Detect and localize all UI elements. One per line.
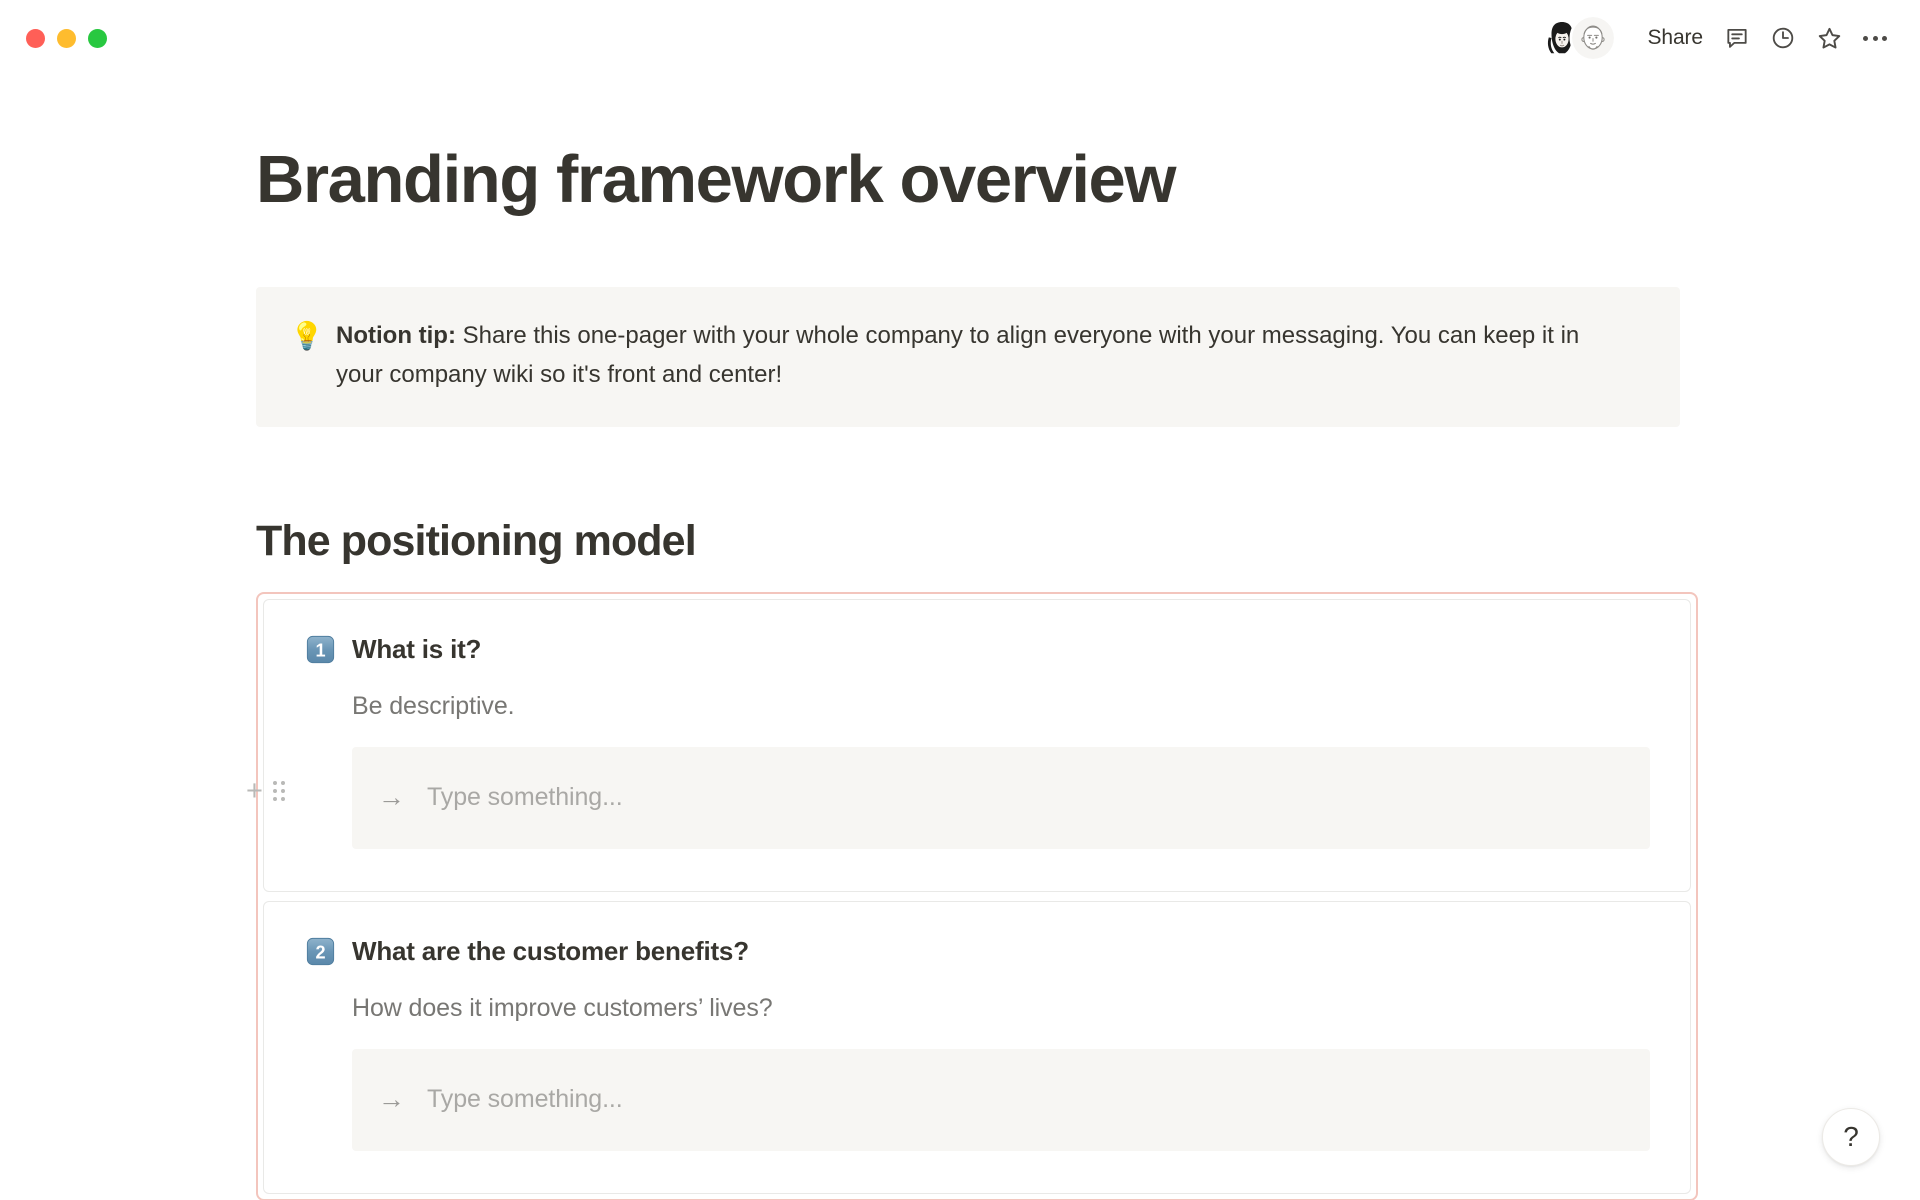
- star-icon[interactable]: [1806, 15, 1852, 61]
- window-close-button[interactable]: [26, 29, 45, 48]
- question-card-2-header: 2 What are the customer benefits?: [304, 936, 1650, 968]
- number-two-emoji: 2: [304, 936, 336, 968]
- help-button[interactable]: ?: [1822, 1108, 1880, 1166]
- question-card-1-answer-row: + → Type something...: [304, 747, 1650, 849]
- lightbulb-emoji: 💡: [290, 318, 336, 354]
- drag-handle-icon[interactable]: [273, 781, 285, 801]
- page-content: Branding framework overview 💡 Notion tip…: [0, 142, 1920, 1200]
- window-maximize-button[interactable]: [88, 29, 107, 48]
- answer-input-1-placeholder: Type something...: [427, 783, 623, 812]
- topbar-actions: Share: [1541, 0, 1898, 76]
- block-controls-1: +: [246, 777, 285, 806]
- collaborator-avatars[interactable]: [1541, 17, 1614, 59]
- question-card-1-title: What is it?: [352, 634, 481, 665]
- svg-text:2: 2: [315, 942, 325, 962]
- answer-input-1[interactable]: → Type something...: [352, 747, 1650, 849]
- section-heading-positioning-model[interactable]: The positioning model: [256, 515, 1920, 569]
- arrow-right-icon: →: [378, 1086, 405, 1113]
- comment-icon[interactable]: [1714, 15, 1760, 61]
- question-card-2-title: What are the customer benefits?: [352, 936, 749, 967]
- answer-input-2[interactable]: → Type something...: [352, 1049, 1650, 1151]
- answer-input-2-placeholder: Type something...: [427, 1085, 623, 1114]
- traffic-lights: [26, 29, 107, 48]
- notion-tip-callout[interactable]: 💡 Notion tip: Share this one-pager with …: [256, 287, 1680, 427]
- question-card-2[interactable]: 2 What are the customer benefits? How do…: [263, 901, 1691, 1194]
- question-card-1-header: 1 What is it?: [304, 634, 1650, 666]
- svg-text:1: 1: [315, 640, 325, 660]
- window-minimize-button[interactable]: [57, 29, 76, 48]
- number-one-emoji: 1: [304, 634, 336, 666]
- window-titlebar: Share: [0, 0, 1920, 76]
- avatar-bald[interactable]: [1572, 17, 1614, 59]
- selected-block-group[interactable]: 1 What is it? Be descriptive. + → Type s…: [256, 592, 1698, 1200]
- question-card-2-subtitle: How does it improve customers’ lives?: [352, 994, 1650, 1023]
- question-card-2-answer-row: → Type something...: [304, 1049, 1650, 1151]
- share-button[interactable]: Share: [1636, 19, 1714, 57]
- question-card-1-subtitle: Be descriptive.: [352, 692, 1650, 721]
- more-dots: [1863, 36, 1887, 41]
- callout-text: Notion tip: Share this one-pager with yo…: [336, 317, 1652, 395]
- callout-body: Share this one-pager with your whole com…: [336, 322, 1579, 388]
- page-title[interactable]: Branding framework overview: [256, 142, 1920, 217]
- arrow-right-icon: →: [378, 784, 405, 811]
- add-block-icon[interactable]: +: [246, 777, 263, 806]
- more-icon[interactable]: [1852, 15, 1898, 61]
- callout-bold-prefix: Notion tip:: [336, 322, 456, 349]
- question-card-1[interactable]: 1 What is it? Be descriptive. + → Type s…: [263, 599, 1691, 892]
- clock-icon[interactable]: [1760, 15, 1806, 61]
